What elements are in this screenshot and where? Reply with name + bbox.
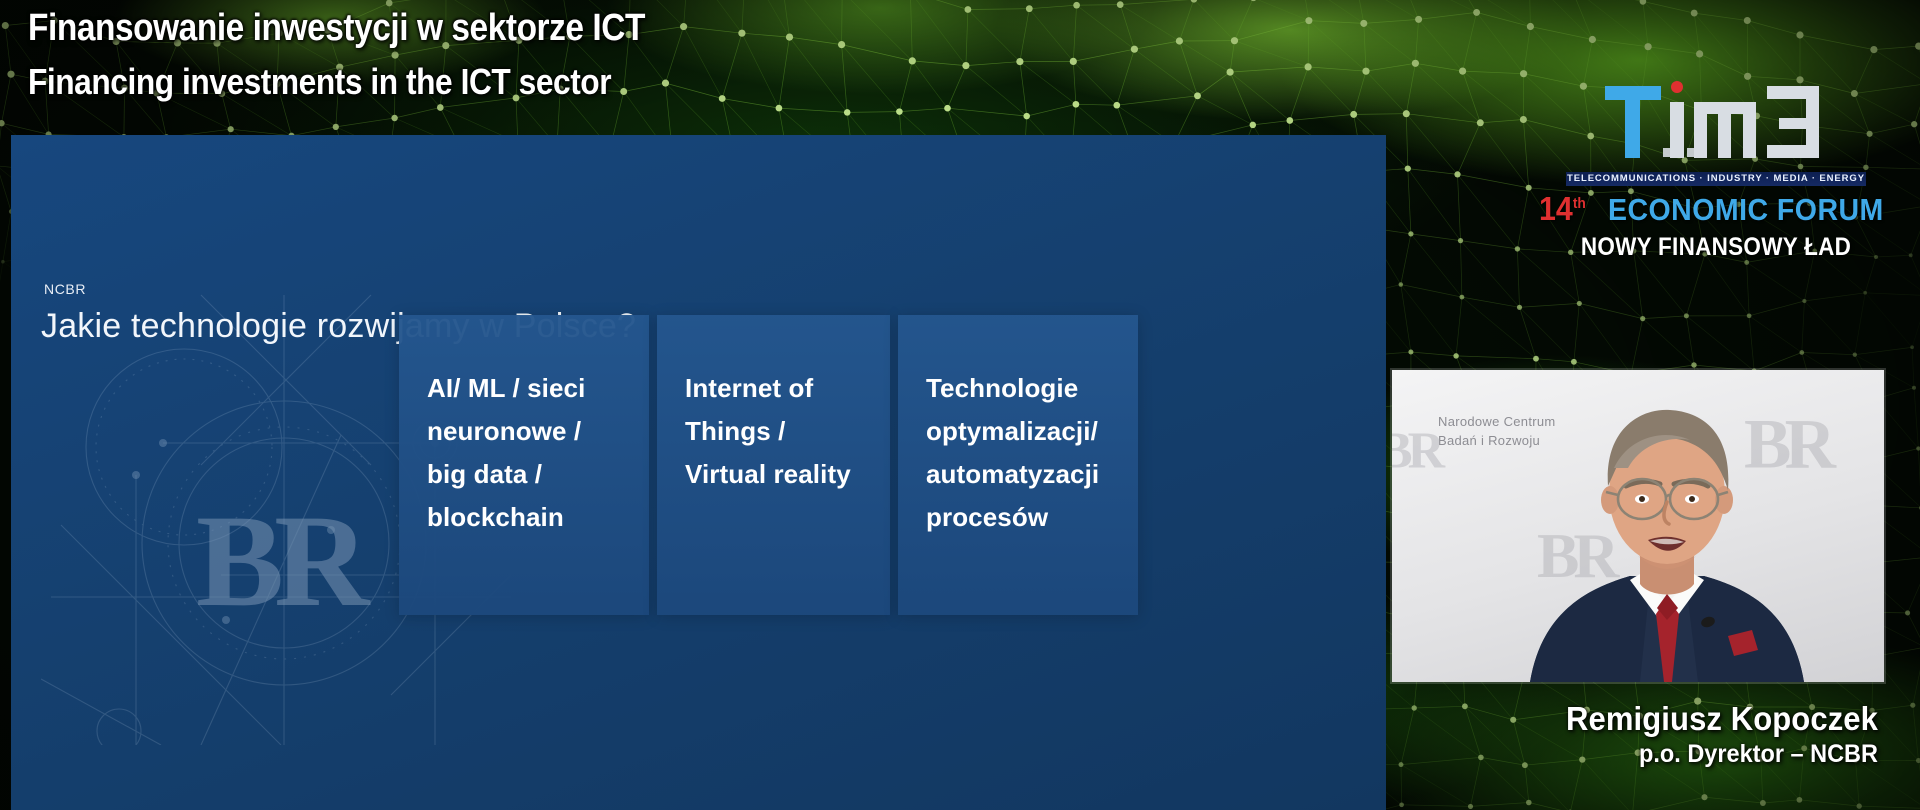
forum-tagline: NOWY FINANSOWY ŁAD (1563, 233, 1869, 262)
technology-card-text: Internet of Things / Virtual reality (685, 367, 862, 496)
technology-card[interactable]: Technologie optymalizacji/ automatyzacji… (898, 315, 1138, 615)
technology-card[interactable]: AI/ ML / sieci neuronowe / big data / bl… (399, 315, 649, 615)
speaker-caption: Remigiusz Kopoczek p.o. Dyrektor – NCBR (1390, 700, 1890, 769)
time-logo-subtitle: TELECOMMUNICATIONS · INDUSTRY · MEDIA · … (1566, 172, 1866, 186)
speaker-role: p.o. Dyrektor – NCBR (1419, 740, 1878, 769)
presentation-slide: BR NCBR Jakie technologie rozwijamy w Po… (11, 135, 1386, 810)
forum-edition-number: 14th (1539, 190, 1586, 228)
broadcast-screen: Finansowanie inwestycji w sektorze ICT F… (0, 0, 1920, 810)
forum-event-name: ECONOMIC FORUM (1608, 192, 1884, 228)
svg-text:BR: BR (196, 487, 371, 634)
technology-cards: AI/ ML / sieci neuronowe / big data / bl… (399, 315, 1138, 615)
header-titles: Finansowanie inwestycji w sektorze ICT F… (28, 4, 729, 106)
speaker-name: Remigiusz Kopoczek (1419, 700, 1878, 738)
technology-card-text: AI/ ML / sieci neuronowe / big data / bl… (427, 367, 621, 540)
technology-card[interactable]: Internet of Things / Virtual reality (657, 315, 890, 615)
speaker-video-panel[interactable]: Narodowe Centrum Badań i Rozwoju BR BR B… (1392, 370, 1884, 682)
lower-third-title-polish: Finansowanie inwestycji w sektorze ICT (28, 4, 645, 52)
technology-card-text: Technologie optymalizacji/ automatyzacji… (926, 367, 1110, 540)
time-wordmark-icon (1601, 80, 1831, 170)
forum-edition-line: 14th ECONOMIC FORUM (1546, 190, 1886, 228)
economic-forum-logo: TELECOMMUNICATIONS · INDUSTRY · MEDIA · … (1546, 80, 1886, 262)
speaker-portrait (1522, 398, 1812, 682)
br-logo-icon: BR (1392, 418, 1448, 484)
slide-kicker-label: NCBR (44, 281, 86, 297)
svg-text:BR: BR (1392, 422, 1446, 479)
lower-third-title-english: Financing investments in the ICT sector (28, 58, 645, 106)
